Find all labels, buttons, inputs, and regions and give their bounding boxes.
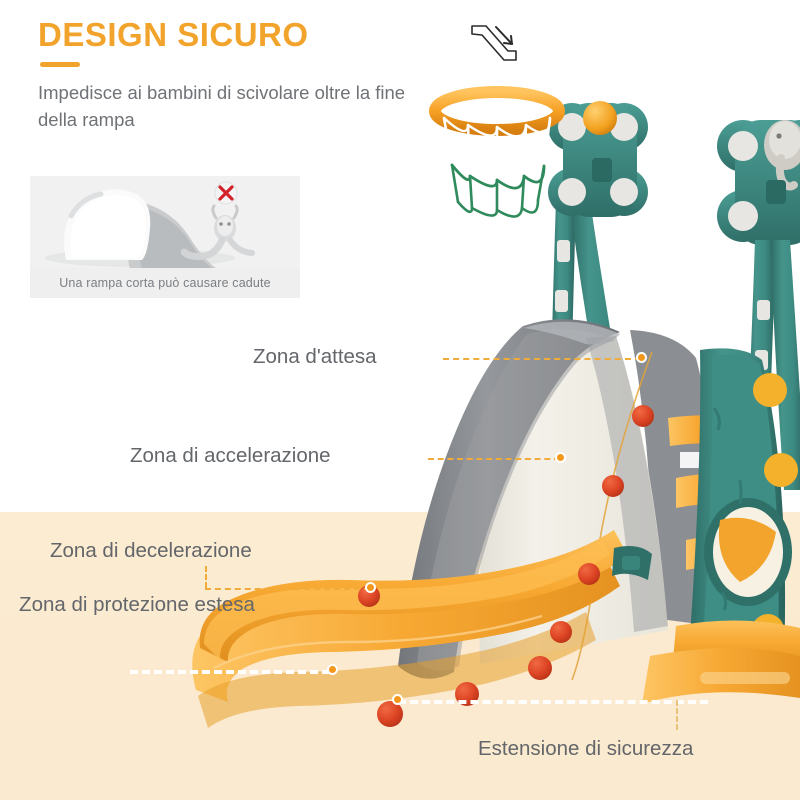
marker-estensione [392,694,403,705]
screw-cap [602,475,624,497]
callout-label-protezione: Zona di protezione estesa [8,592,266,617]
basketball-net [444,118,550,217]
marker-protezione [327,664,338,675]
connector-estensione-v [676,700,678,730]
callout-label-attesa: Zona d'attesa [253,344,377,369]
page-title: DESIGN SICURO [38,18,309,51]
marker-accelerazione [555,452,566,463]
connector-decelerazione-h [205,588,370,590]
warning-inset: Una rampa corta può causare cadute [30,176,300,298]
slide-down-arrow-icon [466,18,526,68]
ball-knob [583,101,617,135]
marker-decelerazione [365,582,376,593]
marker-attesa [636,352,647,363]
callout-label-estensione: Estensione di sicurezza [478,736,693,761]
side-panel [688,348,798,664]
inset-photo [30,176,300,268]
connector-decelerazione-v [205,566,207,588]
connector-protezione [130,670,330,674]
connector-attesa [443,358,641,360]
infographic-canvas: DESIGN SICURO Impedisce ai bambini di sc… [0,0,800,800]
callout-label-decelerazione: Zona di decelerazione [50,538,252,563]
knob [753,373,787,407]
base [642,620,800,704]
red-cross-icon [215,182,237,204]
screw-cap [528,656,552,680]
title-underline [40,62,80,67]
connector-estensione-h [398,700,708,704]
screw-cap [632,405,654,427]
basketball-rim [435,89,559,130]
connector-accelerazione [428,458,560,460]
callout-label-accelerazione: Zona di accelerazione [130,443,331,468]
inset-caption: Una rampa corta può causare cadute [30,268,300,298]
flower-backboard [548,101,648,217]
screw-cap [578,563,600,585]
screw-cap [550,621,572,643]
page-subtitle: Impedisce ai bambini di scivolare oltre … [38,80,438,134]
knob [764,453,798,487]
screw-cap [377,701,403,727]
short-ramp-illustration [30,176,300,268]
